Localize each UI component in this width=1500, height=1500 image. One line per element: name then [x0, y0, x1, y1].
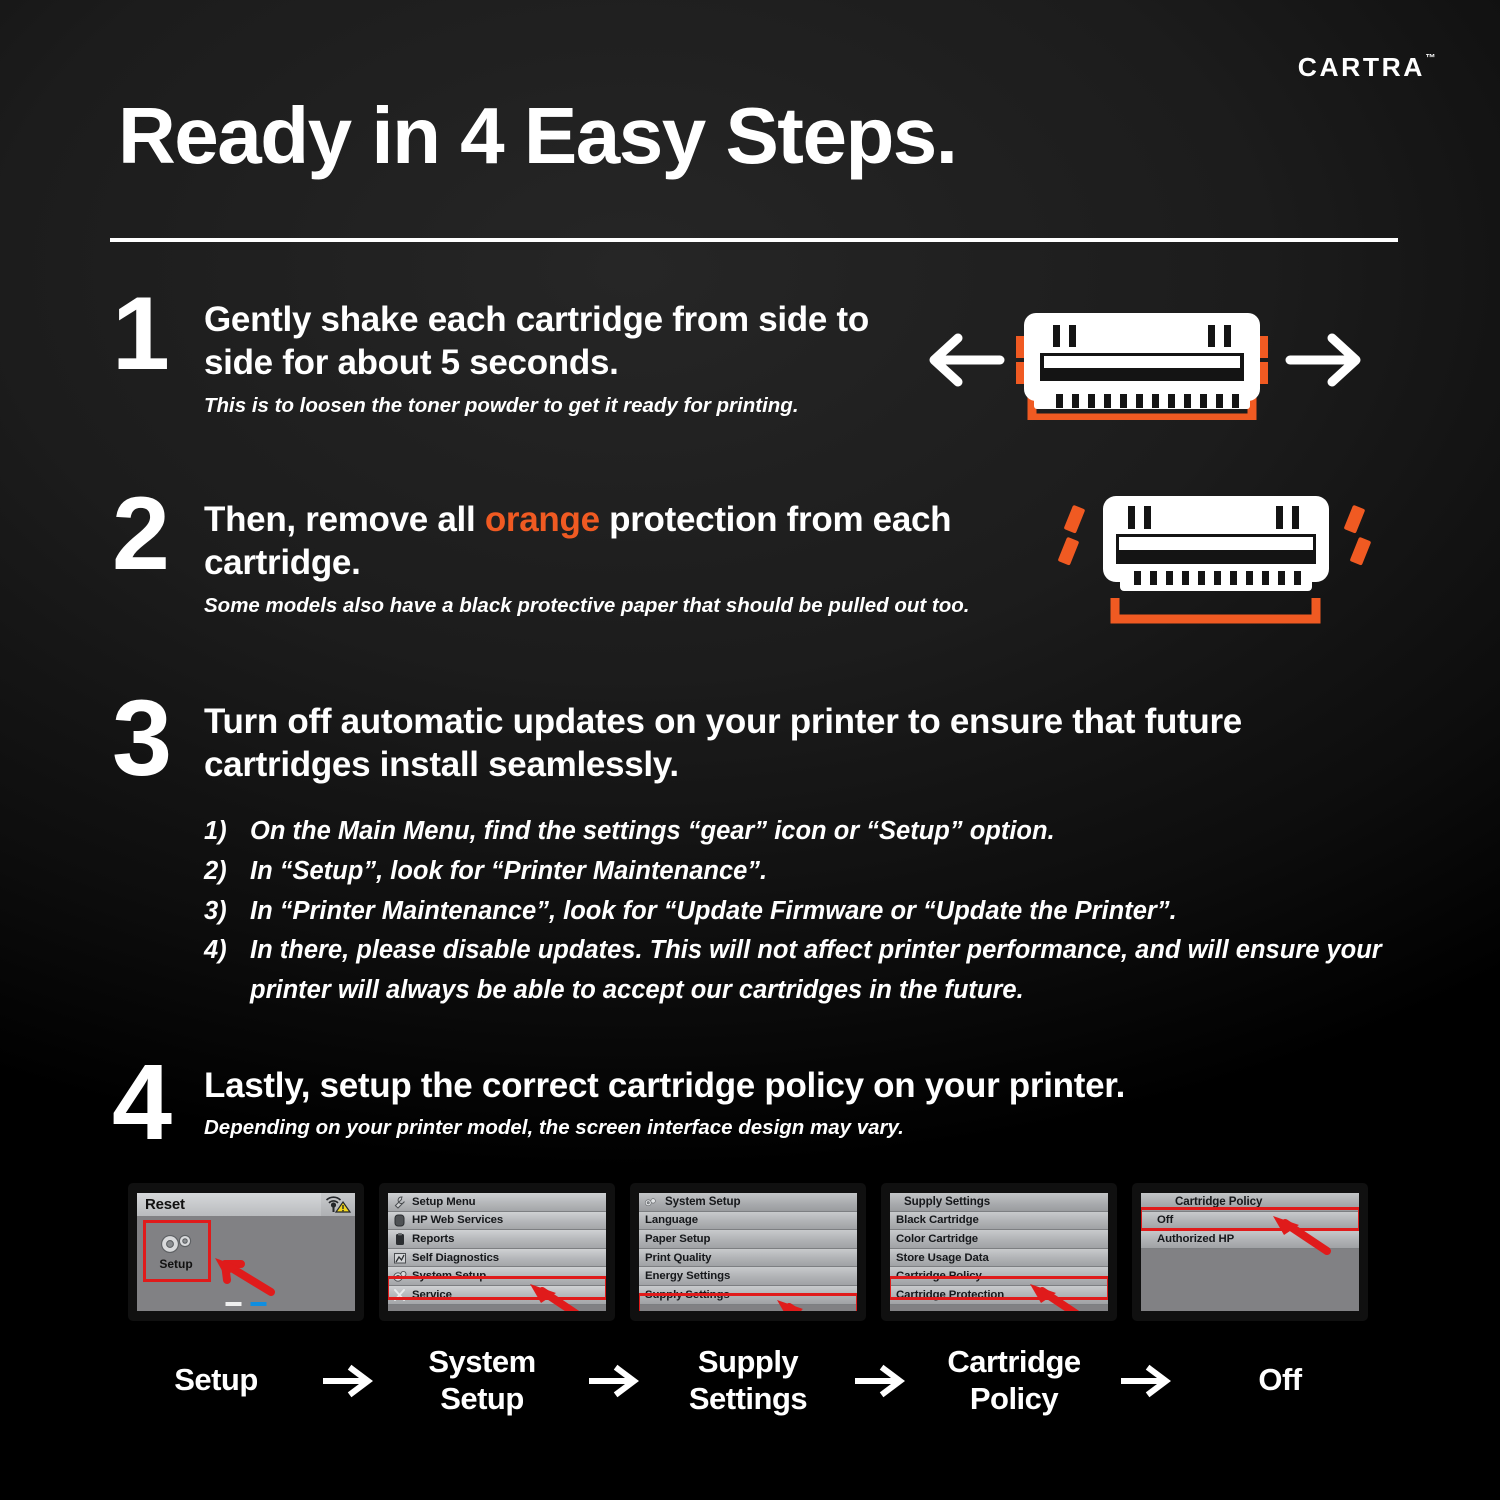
step-2-title-part-a: Then, remove all	[204, 500, 485, 539]
menu-item-label: Energy Settings	[645, 1270, 730, 1282]
list-item: 2) In “Setup”, look for “Printer Mainten…	[204, 852, 1404, 892]
flow-arrow-3-icon	[848, 1364, 914, 1398]
pointer-arrow-icon	[1263, 1209, 1333, 1255]
step-1-title: Gently shake each cartridge from side to…	[204, 298, 902, 385]
list-item-index: 4)	[204, 931, 250, 971]
page-dot-2[interactable]	[251, 1302, 267, 1306]
step-3-title: Turn off automatic updates on your print…	[204, 700, 1402, 787]
step-1: 1 Gently shake each cartridge from side …	[112, 292, 902, 418]
menu-item-label: Service	[412, 1289, 452, 1301]
flow-label-system-setup: System Setup	[394, 1344, 570, 1417]
menu-item-label: Reports	[412, 1233, 454, 1245]
menu-item-label: Print Quality	[645, 1252, 711, 1264]
wifi-warning-icon	[321, 1193, 355, 1216]
menu-header-label: Supply Settings	[904, 1195, 990, 1208]
printer-screen-setup: Reset	[128, 1183, 364, 1321]
wrench-icon	[392, 1195, 407, 1209]
setup-tile[interactable]: Setup	[147, 1225, 205, 1277]
menu-item-label: HP Web Services	[412, 1214, 503, 1226]
page-indicator-dots	[226, 1302, 267, 1306]
step-2-subtitle: Some models also have a black protective…	[204, 593, 1012, 619]
title-divider	[110, 238, 1398, 242]
step-1-number: 1	[112, 292, 204, 377]
menu-item-label: Cartridge Protection	[896, 1289, 1004, 1301]
list-item-index: 2)	[204, 852, 250, 892]
menu-item-label: Cartridge Policy	[896, 1270, 982, 1282]
cartridge-remove-protection-illustration	[1058, 486, 1376, 626]
menu-item-black-cartridge[interactable]: Black Cartridge	[890, 1212, 1108, 1231]
step-2-title-highlight: orange	[485, 500, 600, 539]
gear-icon	[155, 1232, 197, 1256]
pointer-arrow-icon	[767, 1293, 837, 1311]
list-item: 4) In there, please disable updates. Thi…	[204, 931, 1404, 1011]
flow-label-setup: Setup	[128, 1362, 304, 1399]
printer-screen-supply-settings: Supply Settings Black Cartridge Color Ca…	[881, 1183, 1117, 1321]
pointer-arrow-icon	[520, 1277, 590, 1311]
menu-item-paper-setup[interactable]: Paper Setup	[639, 1230, 857, 1249]
step-4: 4 Lastly, setup the correct cartridge po…	[112, 1058, 1402, 1147]
menu-item-energy-settings[interactable]: Energy Settings	[639, 1267, 857, 1286]
setup-label: Setup	[159, 1257, 192, 1271]
step-3-number: 3	[112, 694, 204, 783]
menu-item-label: Paper Setup	[645, 1233, 710, 1245]
flow-arrow-2-icon	[582, 1364, 648, 1398]
step-1-subtitle: This is to loosen the toner powder to ge…	[204, 393, 902, 419]
menu-item-label: Authorized HP	[1157, 1233, 1234, 1245]
clipboard-icon	[392, 1232, 407, 1246]
list-item-text: On the Main Menu, find the settings “gea…	[250, 812, 1404, 852]
menu-item-label: Color Cartridge	[896, 1233, 978, 1245]
printer-screen-system-setup: System Setup Language Paper Setup Print …	[630, 1183, 866, 1321]
menu-item-language[interactable]: Language	[639, 1212, 857, 1231]
menu-item-label: Off	[1157, 1214, 1173, 1226]
list-item: 3) In “Printer Maintenance”, look for “U…	[204, 892, 1404, 932]
list-item-text: In “Setup”, look for “Printer Maintenanc…	[250, 852, 1404, 892]
menu-item-label: Self Diagnostics	[412, 1252, 499, 1264]
tools-icon	[392, 1288, 407, 1302]
menu-item-label: Language	[645, 1214, 698, 1226]
arrow-right-icon	[1290, 338, 1356, 382]
brand-logo: CARTRA ™	[1299, 52, 1438, 83]
list-item-text: In “Printer Maintenance”, look for “Upda…	[250, 892, 1404, 932]
pointer-arrow-icon	[207, 1250, 275, 1296]
menu-item-reports[interactable]: Reports	[388, 1230, 606, 1249]
menu-item-label: System Setup	[412, 1270, 486, 1282]
flow-labels: Setup System Setup Supply Settings Cartr…	[128, 1344, 1368, 1417]
lcd-top-bar: Reset	[137, 1193, 355, 1216]
cloud-icon	[392, 1213, 407, 1227]
trademark-symbol: ™	[1426, 53, 1439, 64]
list-item: 1) On the Main Menu, find the settings “…	[204, 812, 1404, 852]
reset-label[interactable]: Reset	[137, 1196, 185, 1213]
menu-item-self-diagnostics[interactable]: Self Diagnostics	[388, 1249, 606, 1268]
detached-orange-bracket	[1115, 598, 1316, 619]
page-title: Ready in 4 Easy Steps.	[118, 96, 957, 176]
menu-item-hp-web-services[interactable]: HP Web Services	[388, 1212, 606, 1231]
chart-icon	[392, 1251, 407, 1265]
menu-item-setup-menu[interactable]: Setup Menu	[388, 1193, 606, 1212]
page-dot-1[interactable]	[226, 1302, 242, 1306]
printer-screen-cartridge-policy: Cartridge Policy Off Authorized HP	[1132, 1183, 1368, 1321]
cartridge-shake-illustration	[920, 300, 1370, 420]
step-3-sublist: 1) On the Main Menu, find the settings “…	[204, 812, 1404, 1011]
menu-header-system-setup: System Setup	[639, 1193, 857, 1212]
step-4-number: 4	[112, 1058, 204, 1147]
flow-arrow-4-icon	[1114, 1364, 1180, 1398]
flow-arrow-1-icon	[316, 1364, 382, 1398]
gear-icon	[643, 1195, 658, 1209]
list-item-index: 3)	[204, 892, 250, 932]
step-2: 2 Then, remove all orange protection fro…	[112, 492, 1012, 618]
flow-label-off: Off	[1192, 1362, 1368, 1399]
step-2-title: Then, remove all orange protection from …	[204, 498, 1012, 585]
step-3: 3 Turn off automatic updates on your pri…	[112, 694, 1402, 787]
flow-label-supply-settings: Supply Settings	[660, 1344, 836, 1417]
menu-item-color-cartridge[interactable]: Color Cartridge	[890, 1230, 1108, 1249]
step-2-number: 2	[112, 492, 204, 577]
menu-item-label: Store Usage Data	[896, 1252, 989, 1264]
step-4-title: Lastly, setup the correct cartridge poli…	[204, 1064, 1125, 1107]
brand-name: CARTRA	[1297, 52, 1424, 83]
menu-item-store-usage-data[interactable]: Store Usage Data	[890, 1249, 1108, 1268]
menu-header-label: Cartridge Policy	[1175, 1195, 1262, 1208]
infographic-page: CARTRA ™ Ready in 4 Easy Steps. 1 Gently…	[0, 0, 1500, 1500]
printer-screen-setup-menu: Setup Menu HP Web Services Reports	[379, 1183, 615, 1321]
printer-screen-sequence: Reset	[128, 1183, 1368, 1321]
menu-header-supply-settings: Supply Settings	[890, 1193, 1108, 1212]
pointer-arrow-icon	[1020, 1277, 1090, 1311]
list-item-index: 1)	[204, 812, 250, 852]
step-4-subtitle: Depending on your printer model, the scr…	[204, 1115, 1125, 1141]
list-item-text: In there, please disable updates. This w…	[250, 931, 1404, 1011]
detached-orange-tab-right	[1344, 505, 1372, 566]
menu-item-label: Black Cartridge	[896, 1214, 979, 1226]
menu-item-print-quality[interactable]: Print Quality	[639, 1249, 857, 1268]
gear-icon	[392, 1269, 407, 1283]
arrow-left-icon	[934, 338, 1000, 382]
menu-header-label: System Setup	[665, 1195, 740, 1208]
flow-label-cartridge-policy: Cartridge Policy	[926, 1344, 1102, 1417]
menu-item-label: Setup Menu	[412, 1196, 476, 1208]
detached-orange-tab-left	[1058, 505, 1085, 566]
menu-item-label: Supply Settings	[645, 1289, 730, 1301]
